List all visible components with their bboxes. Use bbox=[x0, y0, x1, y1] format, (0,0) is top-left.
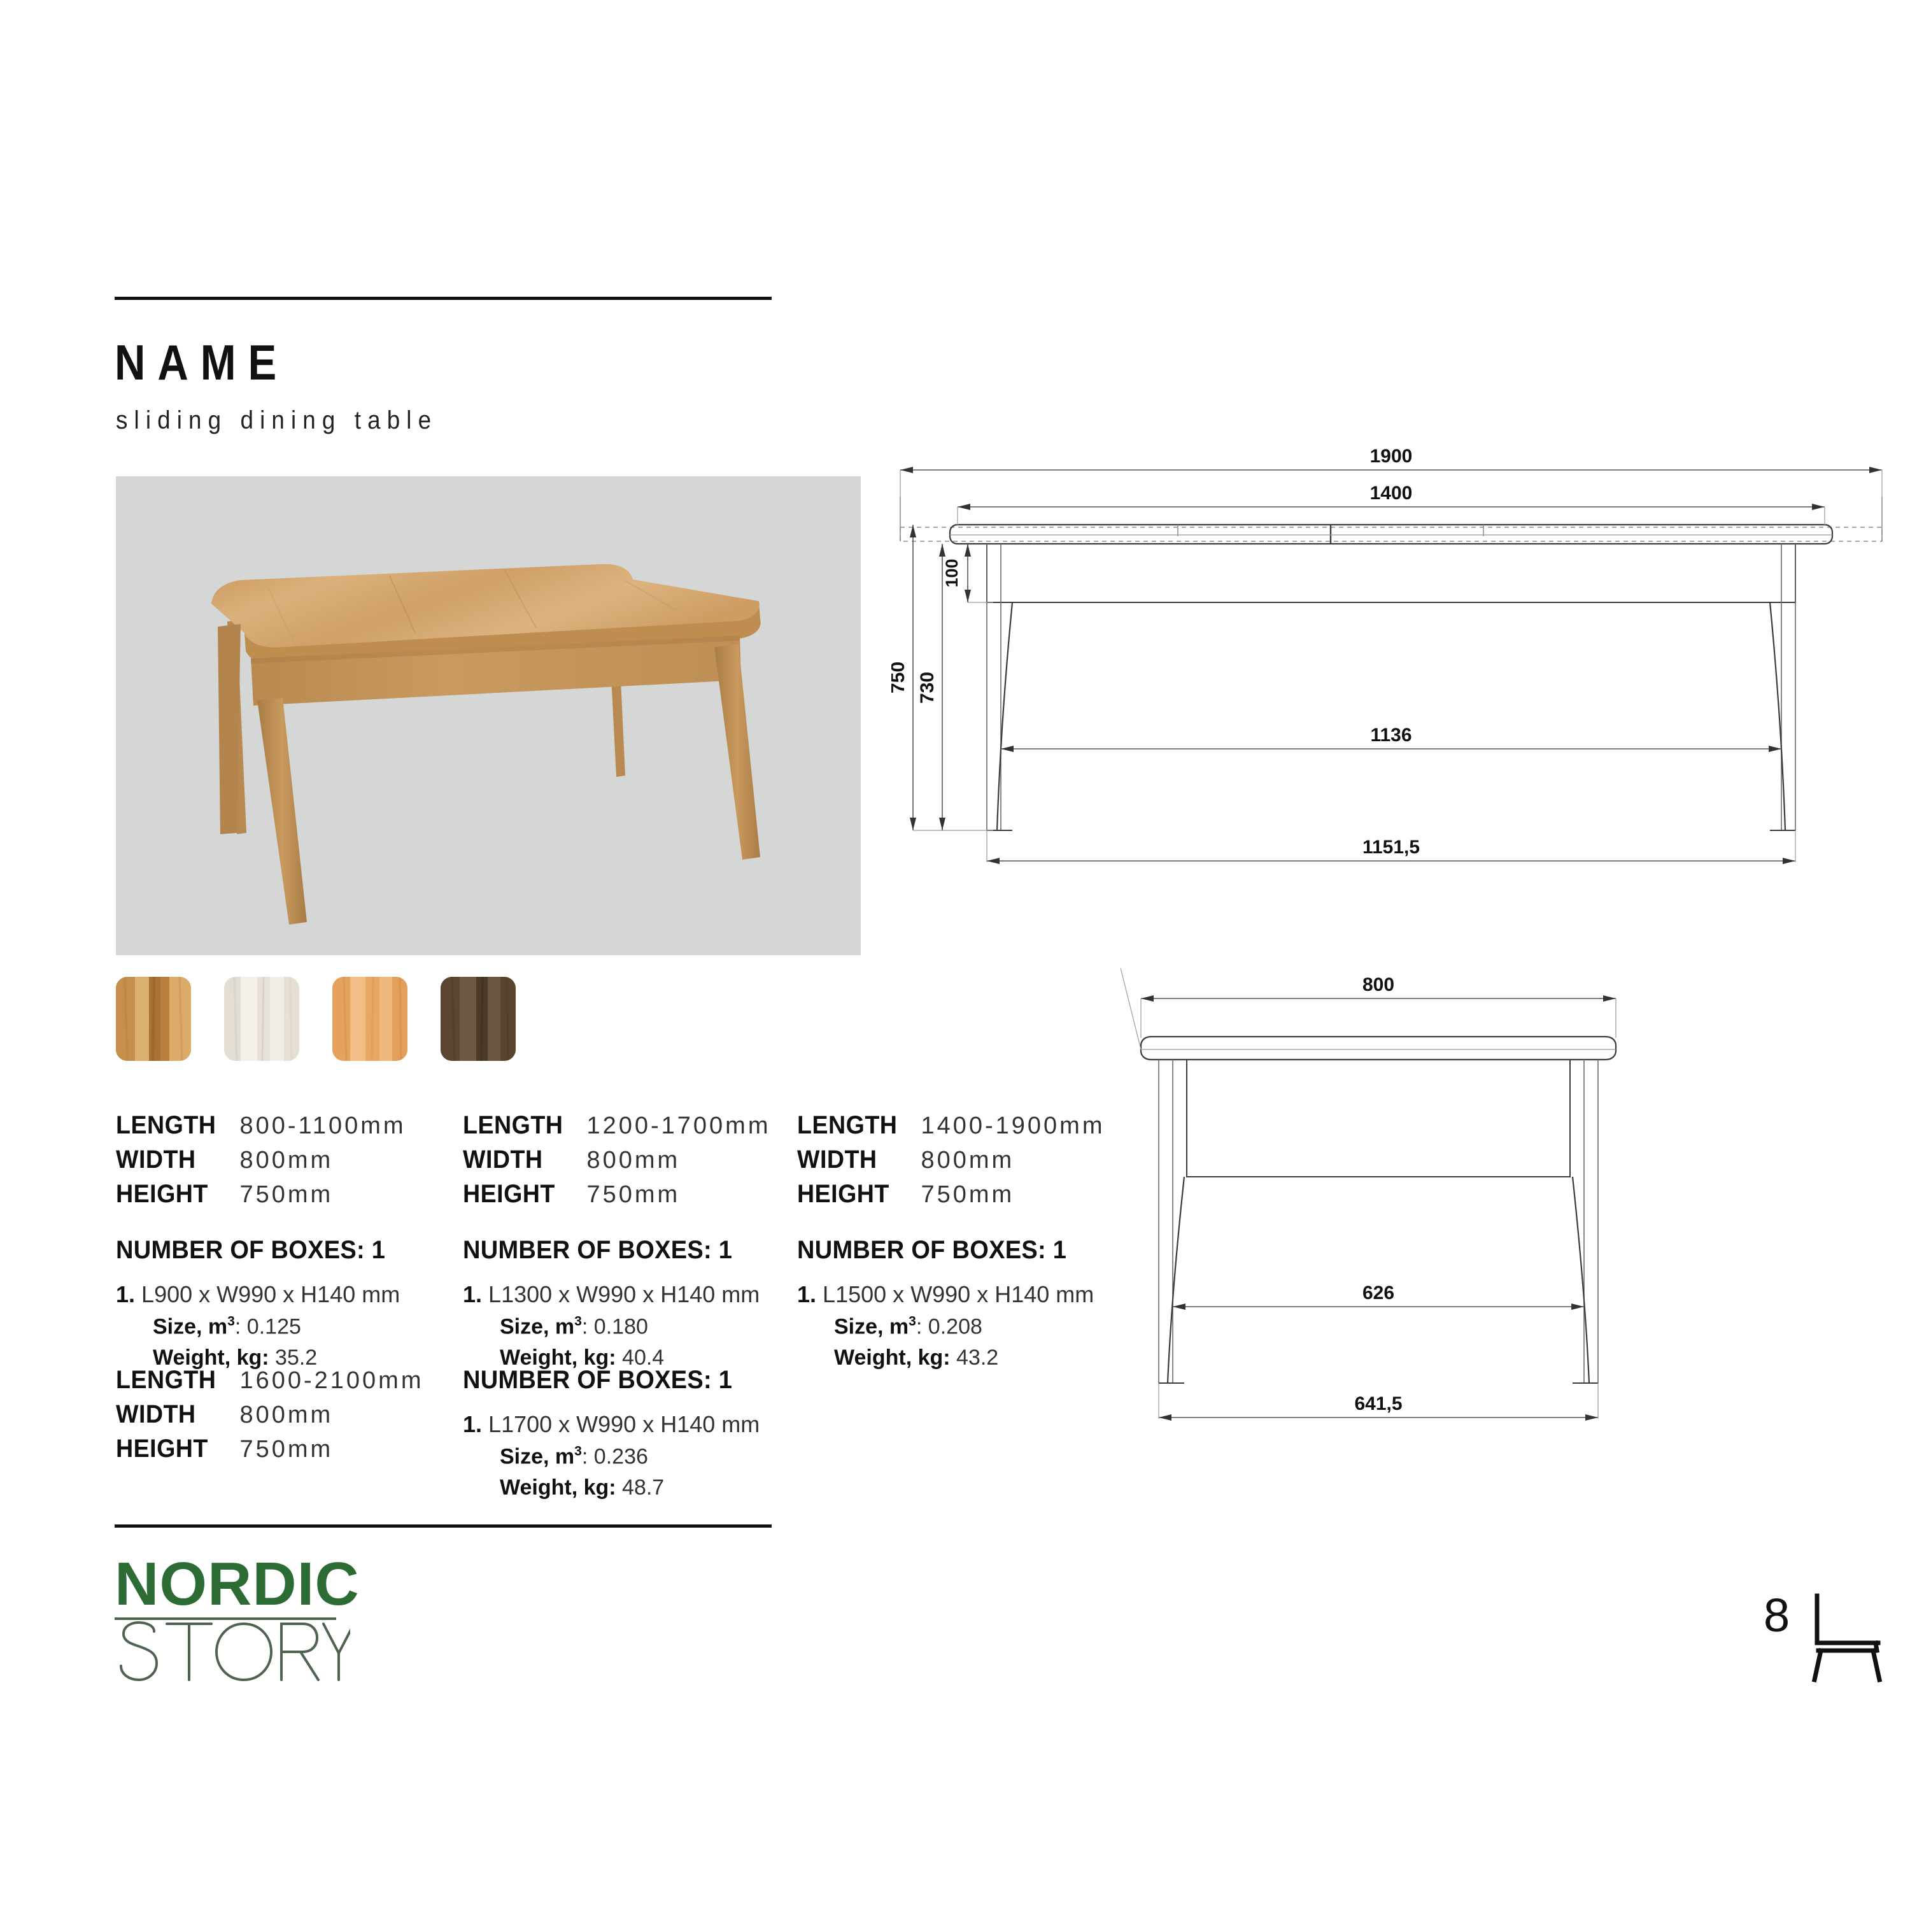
dim-label-100: 100 bbox=[942, 558, 961, 587]
brand-logo-story bbox=[115, 1621, 382, 1696]
length-label: LENGTH bbox=[116, 1111, 230, 1140]
spec-block-variant-1200-1700: LENGTH 1200-1700mm WIDTH 800mm HEIGHT 75… bbox=[463, 1111, 794, 1370]
brand-logo-nordic: NORDIC bbox=[115, 1554, 382, 1615]
box-index: 1. bbox=[463, 1411, 482, 1437]
number-of-boxes-label: NUMBER OF BOXES: 1 bbox=[463, 1366, 777, 1395]
front-elevation-drawing: 1900 1400 100 750 730 1136 1151,5 bbox=[891, 439, 1891, 888]
dim-height: HEIGHT 750mm bbox=[116, 1435, 447, 1469]
page-title: NAME bbox=[115, 337, 288, 387]
dim-label-1151-5: 1151,5 bbox=[1362, 837, 1420, 858]
box-index: 1. bbox=[463, 1281, 482, 1307]
height-label: HEIGHT bbox=[797, 1180, 911, 1209]
box-weight-line: Weight, kg: 48.7 bbox=[500, 1475, 794, 1500]
dim-label-750: 750 bbox=[891, 662, 909, 693]
page-number: 8 bbox=[1764, 1592, 1790, 1639]
width-value: 800mm bbox=[586, 1147, 680, 1174]
dim-label-800: 800 bbox=[1362, 974, 1394, 995]
spec-block-variant-1600-2100-boxes: NUMBER OF BOXES: 1 1. L1700 x W990 x H14… bbox=[463, 1366, 794, 1500]
length-label: LENGTH bbox=[797, 1111, 911, 1140]
dim-width: WIDTH 800mm bbox=[116, 1400, 447, 1435]
size-value: : 0.125 bbox=[235, 1314, 301, 1339]
length-value: 1400-1900mm bbox=[921, 1112, 1105, 1140]
width-value: 800mm bbox=[239, 1147, 333, 1174]
height-value: 750mm bbox=[239, 1181, 333, 1209]
dim-width: WIDTH 800mm bbox=[463, 1146, 794, 1180]
number-of-boxes-label: NUMBER OF BOXES: 1 bbox=[463, 1236, 777, 1265]
dim-label-730: 730 bbox=[917, 672, 938, 704]
box-dimensions: L1300 x W990 x H140 mm bbox=[488, 1281, 760, 1307]
size-value: : 0.180 bbox=[582, 1314, 648, 1339]
dim-height: HEIGHT 750mm bbox=[797, 1180, 1115, 1214]
product-photo bbox=[116, 476, 861, 955]
dim-label-626: 626 bbox=[1362, 1282, 1394, 1303]
length-value: 1600-2100mm bbox=[239, 1367, 423, 1395]
page-subtitle: sliding dining table bbox=[116, 408, 437, 433]
size-exponent: 3 bbox=[574, 1444, 582, 1459]
box-weight-line: Weight, kg: 43.2 bbox=[834, 1346, 1115, 1370]
size-value: : 0.208 bbox=[916, 1314, 982, 1339]
box-dimensions-line: 1. L1300 x W990 x H140 mm bbox=[463, 1281, 794, 1308]
bottom-divider-rule bbox=[115, 1524, 772, 1528]
number-of-boxes-label: NUMBER OF BOXES: 1 bbox=[797, 1236, 1100, 1265]
box-size-line: Size, m3: 0.208 bbox=[834, 1314, 1115, 1339]
height-label: HEIGHT bbox=[116, 1180, 230, 1209]
height-label: HEIGHT bbox=[463, 1180, 577, 1209]
brand-logo: NORDIC bbox=[115, 1554, 382, 1707]
box-dimensions-line: 1. L1500 x W990 x H140 mm bbox=[797, 1281, 1115, 1308]
box-dimensions-line: 1. L900 x W990 x H140 mm bbox=[116, 1281, 447, 1308]
swatch-light-natural-oak[interactable] bbox=[332, 977, 407, 1061]
size-exponent: 3 bbox=[574, 1314, 582, 1329]
dim-label-1400: 1400 bbox=[1370, 483, 1413, 504]
box-dimensions-line: 1. L1700 x W990 x H140 mm bbox=[463, 1411, 794, 1438]
dim-length: LENGTH 1400-1900mm bbox=[797, 1111, 1115, 1146]
spec-block-variant-1600-2100-dimensions: LENGTH 1600-2100mm WIDTH 800mm HEIGHT 75… bbox=[116, 1366, 447, 1469]
dim-height: HEIGHT 750mm bbox=[116, 1180, 447, 1214]
dim-label-1136: 1136 bbox=[1370, 725, 1411, 746]
dim-length: LENGTH 800-1100mm bbox=[116, 1111, 447, 1146]
size-exponent: 3 bbox=[909, 1314, 916, 1329]
dim-height: HEIGHT 750mm bbox=[463, 1180, 794, 1214]
dim-label-1900: 1900 bbox=[1370, 446, 1413, 467]
side-elevation-drawing: 800 626 641,5 bbox=[1121, 968, 1668, 1468]
size-label: Size, m bbox=[153, 1314, 227, 1339]
width-value: 800mm bbox=[239, 1402, 333, 1429]
height-label: HEIGHT bbox=[116, 1435, 230, 1463]
spec-sheet-page: NAME sliding dining table bbox=[0, 0, 1910, 1932]
length-label: LENGTH bbox=[463, 1111, 577, 1140]
finish-swatches bbox=[116, 977, 562, 1072]
width-label: WIDTH bbox=[116, 1400, 230, 1429]
length-value: 800-1100mm bbox=[239, 1112, 406, 1140]
length-value: 1200-1700mm bbox=[586, 1112, 770, 1140]
dim-width: WIDTH 800mm bbox=[116, 1146, 447, 1180]
height-value: 750mm bbox=[239, 1436, 333, 1463]
box-size-line: Size, m3: 0.236 bbox=[500, 1444, 794, 1469]
height-value: 750mm bbox=[921, 1181, 1014, 1209]
size-exponent: 3 bbox=[227, 1314, 235, 1329]
chair-side-icon bbox=[1806, 1589, 1888, 1688]
width-label: WIDTH bbox=[116, 1146, 230, 1174]
box-index: 1. bbox=[116, 1281, 135, 1307]
height-value: 750mm bbox=[586, 1181, 680, 1209]
size-label: Size, m bbox=[834, 1314, 909, 1339]
box-dimensions: L1700 x W990 x H140 mm bbox=[488, 1411, 760, 1437]
swatch-golden-oak[interactable] bbox=[116, 977, 191, 1061]
dim-length: LENGTH 1600-2100mm bbox=[116, 1366, 447, 1400]
top-divider-rule bbox=[115, 297, 772, 300]
width-value: 800mm bbox=[921, 1147, 1014, 1174]
spec-block-variant-1400-1900: LENGTH 1400-1900mm WIDTH 800mm HEIGHT 75… bbox=[797, 1111, 1115, 1370]
width-label: WIDTH bbox=[797, 1146, 911, 1174]
dim-width: WIDTH 800mm bbox=[797, 1146, 1115, 1180]
swatch-whitewashed-oak[interactable] bbox=[224, 977, 299, 1061]
box-index: 1. bbox=[797, 1281, 816, 1307]
box-dimensions: L900 x W990 x H140 mm bbox=[141, 1281, 400, 1307]
size-value: : 0.236 bbox=[582, 1444, 648, 1468]
weight-label: Weight, kg: bbox=[500, 1475, 616, 1500]
swatch-dark-walnut[interactable] bbox=[441, 977, 516, 1061]
box-size-line: Size, m3: 0.125 bbox=[153, 1314, 447, 1339]
width-label: WIDTH bbox=[463, 1146, 577, 1174]
size-label: Size, m bbox=[500, 1444, 574, 1468]
length-label: LENGTH bbox=[116, 1366, 230, 1395]
weight-value: 43.2 bbox=[956, 1346, 998, 1370]
box-dimensions: L1500 x W990 x H140 mm bbox=[823, 1281, 1094, 1307]
size-label: Size, m bbox=[500, 1314, 574, 1339]
weight-value: 48.7 bbox=[622, 1475, 664, 1500]
spec-block-variant-800-1100: LENGTH 800-1100mm WIDTH 800mm HEIGHT 750… bbox=[116, 1111, 447, 1370]
number-of-boxes-label: NUMBER OF BOXES: 1 bbox=[116, 1236, 430, 1265]
dim-length: LENGTH 1200-1700mm bbox=[463, 1111, 794, 1146]
box-size-line: Size, m3: 0.180 bbox=[500, 1314, 794, 1339]
weight-label: Weight, kg: bbox=[834, 1346, 951, 1370]
dim-label-641-5: 641,5 bbox=[1354, 1393, 1402, 1414]
